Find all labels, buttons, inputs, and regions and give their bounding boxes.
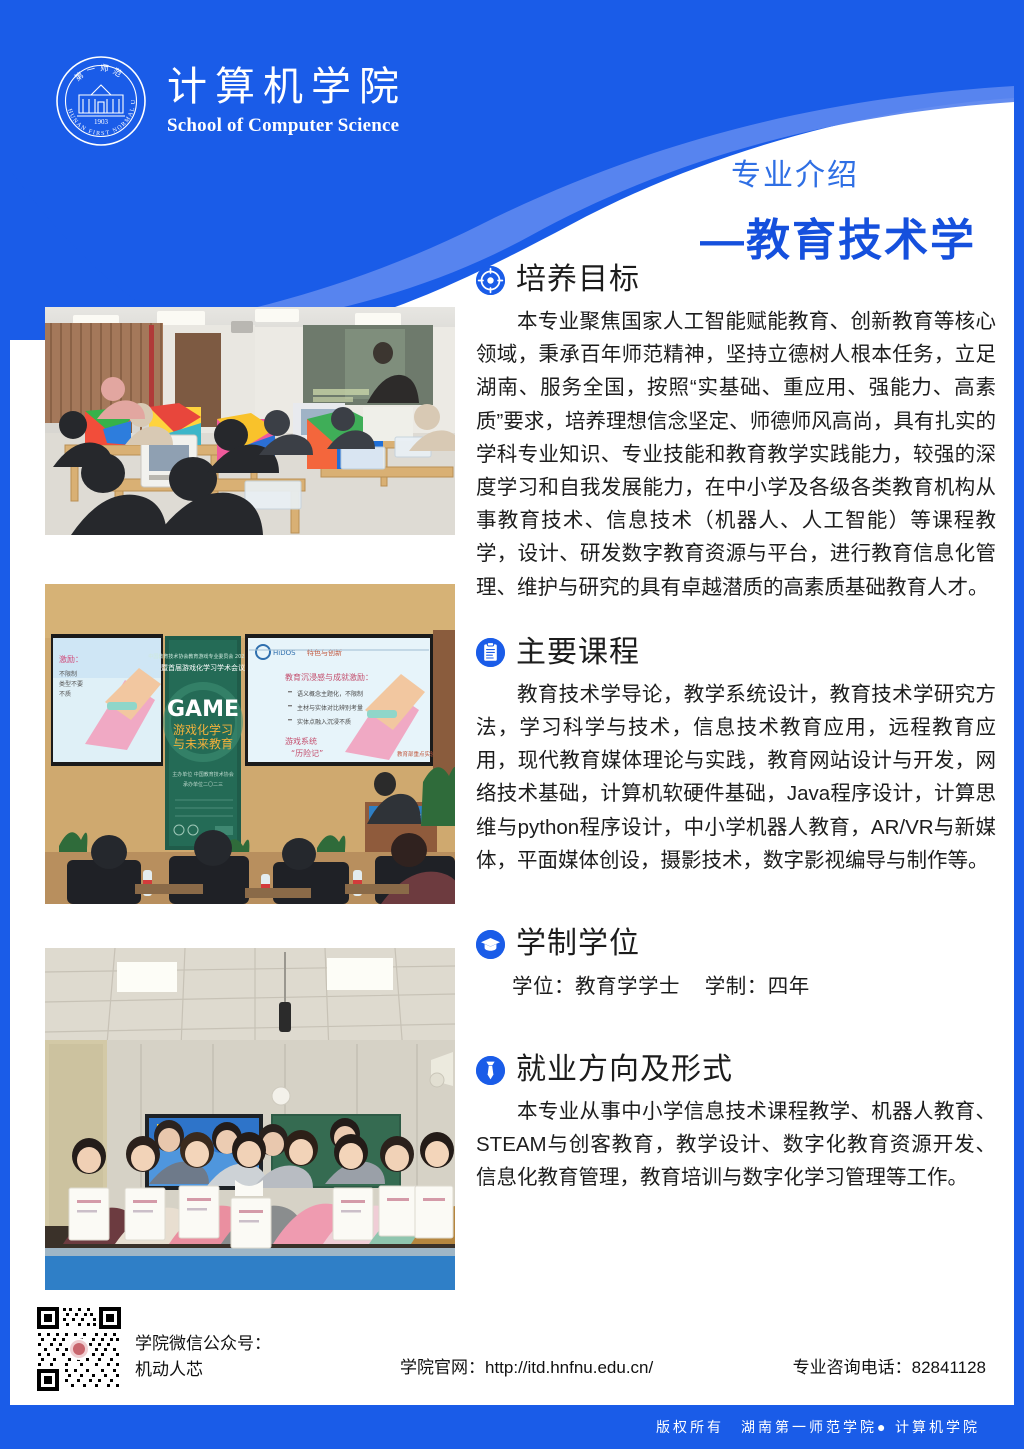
copyright-text: 版权所有 湖南第一师范学院● 计算机学院	[656, 1417, 980, 1437]
college-name-en: School of Computer Science	[167, 116, 407, 135]
section-body: 教育技术学导论，教学系统设计，教育技术学研究方法，学习科学与技术，信息技术教育应…	[476, 678, 996, 877]
consult-phone: 专业咨询电话：82841128	[793, 1353, 986, 1378]
wechat-qr-code[interactable]	[35, 1305, 123, 1393]
section-training-objective: 培养目标 本专业聚焦国家人工智能赋能教育、创新教育等核心领域，秉承百年师范精神，…	[476, 265, 996, 604]
svg-text:暨首届游戏化学习学术会议: 暨首届游戏化学习学术会议	[161, 663, 245, 672]
college-name-block: 计算机学院 School of Computer Science	[167, 67, 407, 135]
svg-text:中国教育技术协会教育游戏专业委员会 2023年会: 中国教育技术协会教育游戏专业委员会 2023年会	[148, 653, 257, 660]
graduation-cap-icon	[476, 930, 505, 959]
svg-text:类型不要: 类型不要	[59, 680, 83, 688]
phone-number: 82841128	[912, 1358, 986, 1377]
svg-text:“历险记”: “历险记”	[291, 748, 323, 758]
svg-text:不质: 不质	[59, 690, 71, 698]
website-url[interactable]: http://itd.hnfnu.edu.cn/	[485, 1358, 653, 1377]
poster-page: 1903 第一师范 HUNAN FIRST NORMAL UNIVERSITY …	[10, 10, 1014, 1405]
poster-root: 1903 第一师范 HUNAN FIRST NORMAL UNIVERSITY …	[0, 0, 1024, 1449]
svg-text:特色与创新: 特色与创新	[307, 648, 342, 657]
section-main-courses: 主要课程 教育技术学导论，教学系统设计，教育技术学研究方法，学习科学与技术，信息…	[476, 638, 996, 877]
degree-value: 教育学学士	[575, 975, 680, 998]
degree-duration-line: 学位：教育学学士 学制：四年	[476, 969, 996, 999]
section-employment: 就业方向及形式 本专业从事中小学信息技术课程教学、机器人教育、STEAM与创客教…	[476, 1055, 996, 1195]
section-heading: 学制学位	[476, 929, 996, 959]
content-column: 培养目标 本专业聚焦国家人工智能赋能教育、创新教育等核心领域，秉承百年师范精神，…	[476, 265, 996, 1199]
svg-text:主办单位 中国教育技术协会: 主办单位 中国教育技术协会	[172, 771, 234, 778]
university-crest-icon: 1903 第一师范 HUNAN FIRST NORMAL UNIVERSITY	[55, 55, 147, 147]
svg-text:不限制: 不限制	[59, 670, 77, 678]
degree-label: 学位：	[512, 975, 575, 998]
svg-text:激励：: 激励：	[59, 654, 83, 664]
wechat-label-line1: 学院微信公众号：	[135, 1331, 271, 1357]
academic-conference-photo: 激励： 不限制 类型不要 不质 中国教育技术协会教育游戏专业委员会 2023年会…	[45, 584, 455, 904]
wechat-label: 学院微信公众号： 机动人芯	[135, 1331, 271, 1382]
svg-text:实体点融入沉浸不质: 实体点融入沉浸不质	[297, 718, 351, 726]
title-subtitle: 专业介绍	[700, 150, 859, 194]
section-heading: 就业方向及形式	[476, 1055, 996, 1085]
svg-text:游戏化学习: 游戏化学习	[173, 722, 233, 737]
college-website[interactable]: 学院官网：http://itd.hnfnu.edu.cn/	[400, 1353, 653, 1378]
section-body: 本专业聚焦国家人工智能赋能教育、创新教育等核心领域，秉承百年师范精神，坚持立德树…	[476, 305, 996, 604]
college-logo: 1903 第一师范 HUNAN FIRST NORMAL UNIVERSITY …	[55, 55, 407, 147]
wechat-account-name: 机动人芯	[135, 1357, 271, 1383]
section-heading: 培养目标	[476, 265, 996, 295]
college-name-cn: 计算机学院	[167, 67, 407, 107]
award-group-photo	[45, 948, 455, 1290]
svg-text:GAME: GAME	[167, 697, 239, 722]
website-label: 学院官网：	[400, 1358, 485, 1377]
duration-value: 四年	[768, 975, 810, 998]
svg-text:教育沉浸感与成就激励：: 教育沉浸感与成就激励：	[285, 672, 373, 682]
tie-icon	[476, 1056, 505, 1085]
svg-text:与未来教育: 与未来教育	[173, 736, 233, 751]
svg-text:语义概念主题化，不限制: 语义概念主题化，不限制	[297, 690, 363, 698]
phone-label: 专业咨询电话：	[793, 1358, 912, 1377]
svg-text:游戏系统: 游戏系统	[285, 736, 317, 746]
section-title: 学制学位	[516, 929, 640, 959]
section-title: 主要课程	[516, 638, 640, 668]
target-icon	[476, 266, 505, 295]
clipboard-icon	[476, 638, 505, 667]
footer: 学院微信公众号： 机动人芯 学院官网：http://itd.hnfnu.edu.…	[10, 1295, 1014, 1405]
svg-text:承办单位二〇二三: 承办单位二〇二三	[183, 781, 223, 788]
duration-label: 学制：	[705, 975, 768, 998]
section-heading: 主要课程	[476, 638, 996, 668]
section-title: 就业方向及形式	[516, 1055, 733, 1085]
svg-text:主材与实体对比辨别考量: 主材与实体对比辨别考量	[297, 704, 363, 712]
computer-lab-classroom-photo	[45, 307, 455, 535]
title-major-name: —教育技术学	[700, 204, 976, 268]
section-body: 本专业从事中小学信息技术课程教学、机器人教育、STEAM与创客教育，教学设计、数…	[476, 1095, 996, 1195]
svg-text:1903: 1903	[94, 118, 109, 126]
copyright-bar: 版权所有 湖南第一师范学院● 计算机学院	[0, 1405, 1024, 1449]
poster-title: 专业介绍 —教育技术学	[700, 150, 976, 268]
section-title: 培养目标	[516, 265, 640, 295]
section-degree-duration: 学制学位 学位：教育学学士 学制：四年	[476, 929, 996, 999]
